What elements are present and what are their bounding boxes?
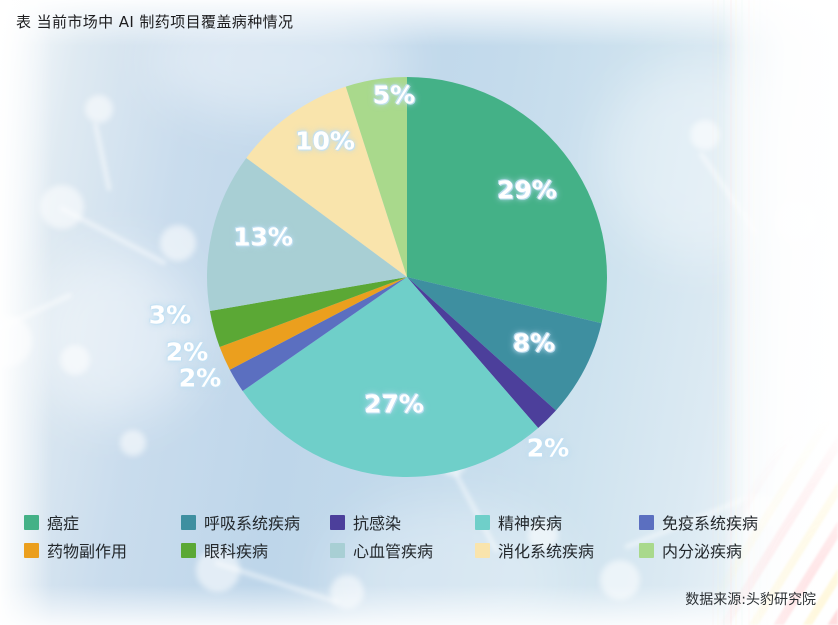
legend-label: 眼科疾病: [204, 538, 268, 562]
pie-slice-label-8: 13%: [233, 223, 293, 252]
legend-label: 呼吸系统疾病: [204, 510, 300, 534]
data-source-note: 数据来源:头豹研究院: [685, 589, 816, 609]
chart-legend: 癌症呼吸系统疾病抗感染精神疾病免疫系统疾病 药物副作用眼科疾病心血管疾病消化系统…: [24, 508, 814, 564]
legend-item-精神疾病[interactable]: 精神疾病: [475, 510, 562, 534]
pie-slice-label-3: 2%: [527, 434, 569, 463]
legend-item-眼科疾病[interactable]: 眼科疾病: [181, 538, 268, 562]
legend-label: 药物副作用: [47, 538, 127, 562]
legend-item-药物副作用[interactable]: 药物副作用: [24, 538, 127, 562]
legend-label: 精神疾病: [498, 510, 562, 534]
pie-slice-label-7: 3%: [149, 301, 191, 330]
legend-item-消化系统疾病[interactable]: 消化系统疾病: [475, 538, 594, 562]
molecule-node: [60, 345, 90, 375]
legend-item-抗感染[interactable]: 抗感染: [330, 510, 401, 534]
legend-swatch-icon: [330, 515, 345, 530]
molecule-node: [120, 430, 146, 456]
legend-item-呼吸系统疾病[interactable]: 呼吸系统疾病: [181, 510, 300, 534]
molecule-node: [85, 95, 113, 123]
molecule-bond: [93, 122, 112, 192]
legend-item-免疫系统疾病[interactable]: 免疫系统疾病: [639, 510, 758, 534]
legend-item-癌症[interactable]: 癌症: [24, 510, 79, 534]
legend-swatch-icon: [24, 543, 39, 558]
pie-slice-label-2: 8%: [513, 329, 555, 358]
legend-label: 抗感染: [353, 510, 401, 534]
chart-canvas: 表 当前市场中 AI 制药项目覆盖病种情况 29%8%2%27%2%2%3%13…: [0, 0, 838, 625]
background-haze-1: [30, 250, 200, 420]
legend-swatch-icon: [181, 543, 196, 558]
legend-label: 免疫系统疾病: [662, 510, 758, 534]
legend-swatch-icon: [475, 515, 490, 530]
legend-label: 心血管疾病: [353, 538, 433, 562]
legend-label: 消化系统疾病: [498, 538, 594, 562]
legend-swatch-icon: [24, 515, 39, 530]
legend-row-1: 癌症呼吸系统疾病抗感染精神疾病免疫系统疾病: [24, 508, 814, 536]
pie-slice-label-5: 2%: [179, 364, 221, 393]
legend-item-心血管疾病[interactable]: 心血管疾病: [330, 538, 433, 562]
legend-item-内分泌疾病[interactable]: 内分泌疾病: [639, 538, 742, 562]
page-title: 表 当前市场中 AI 制药项目覆盖病种情况: [16, 11, 293, 32]
legend-label: 内分泌疾病: [662, 538, 742, 562]
pie-slice-label-6: 2%: [166, 338, 208, 367]
pie-slice-label-1: 29%: [497, 176, 557, 205]
pie-slice-label-9: 10%: [295, 127, 355, 156]
corner-flare: [688, 325, 838, 625]
legend-swatch-icon: [330, 543, 345, 558]
legend-row-2: 药物副作用眼科疾病心血管疾病消化系统疾病内分泌疾病: [24, 536, 814, 564]
legend-swatch-icon: [181, 515, 196, 530]
legend-swatch-icon: [639, 515, 654, 530]
pie-slice-label-10: 5%: [373, 81, 415, 110]
legend-label: 癌症: [47, 510, 79, 534]
pie-slice-label-4: 27%: [364, 390, 424, 419]
legend-swatch-icon: [639, 543, 654, 558]
legend-swatch-icon: [475, 543, 490, 558]
